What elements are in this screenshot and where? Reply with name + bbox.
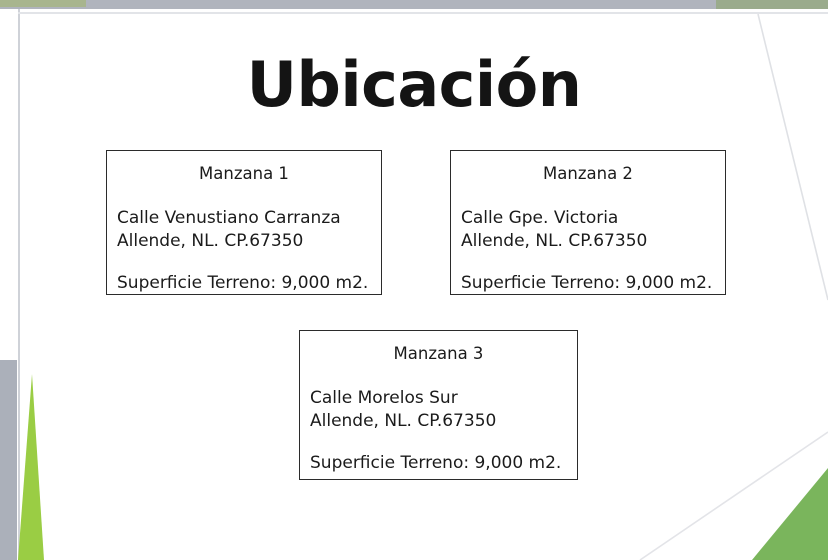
green-wedge-decoration	[0, 360, 150, 560]
box-area: Superficie Terreno: 9,000 m2.	[300, 453, 577, 473]
box-locality: Allende, NL. CP.67350	[461, 230, 725, 253]
page-title: Ubicación	[0, 52, 828, 117]
box-area: Superficie Terreno: 9,000 m2.	[107, 273, 381, 293]
left-gray-band	[0, 360, 17, 560]
slide-canvas: Ubicación Manzana 1 Calle Venustiano Car…	[0, 0, 828, 560]
box-locality: Allende, NL. CP.67350	[117, 230, 381, 253]
frame-line-top	[18, 12, 828, 14]
box-address: Calle Venustiano Carranza Allende, NL. C…	[107, 207, 381, 253]
box-street: Calle Gpe. Victoria	[461, 207, 725, 230]
box-street: Calle Venustiano Carranza	[117, 207, 381, 230]
top-bar-green-left-segment	[0, 0, 86, 7]
box-street: Calle Morelos Sur	[310, 387, 577, 410]
info-box-manzana-1: Manzana 1 Calle Venustiano Carranza Alle…	[106, 150, 382, 295]
box-title: Manzana 1	[107, 165, 381, 183]
top-gray-bar	[0, 0, 828, 9]
green-triangle-decoration	[640, 440, 828, 560]
info-box-manzana-2: Manzana 2 Calle Gpe. Victoria Allende, N…	[450, 150, 726, 295]
box-title: Manzana 2	[451, 165, 725, 183]
box-address: Calle Morelos Sur Allende, NL. CP.67350	[300, 387, 577, 433]
box-area: Superficie Terreno: 9,000 m2.	[451, 273, 725, 293]
box-locality: Allende, NL. CP.67350	[310, 410, 577, 433]
info-box-manzana-3: Manzana 3 Calle Morelos Sur Allende, NL.…	[299, 330, 578, 480]
top-bar-green-right-segment	[716, 0, 828, 9]
box-title: Manzana 3	[300, 345, 577, 363]
box-address: Calle Gpe. Victoria Allende, NL. CP.6735…	[451, 207, 725, 253]
